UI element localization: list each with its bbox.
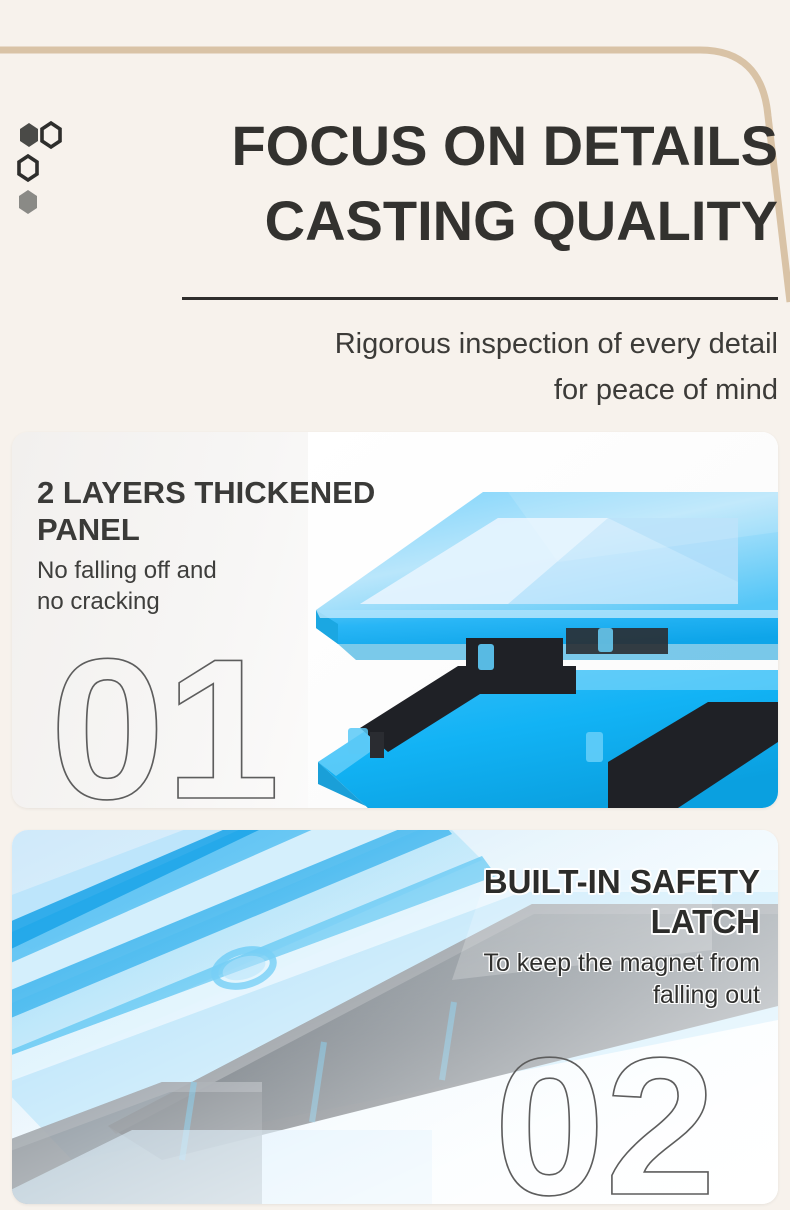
card-01-subtext: No falling off and no cracking bbox=[37, 556, 517, 618]
card-02-subtext: To keep the magnet from falling out bbox=[330, 947, 760, 1012]
feature-card-01: 2 LAYERS THICKENED PANEL No falling off … bbox=[12, 432, 778, 808]
card-02-sub-line-2: falling out bbox=[330, 979, 760, 1012]
card-01-number: 01 bbox=[50, 650, 290, 808]
card-01-heading-line-1: 2 LAYERS THICKENED bbox=[37, 474, 517, 511]
card-01-number-text: 01 bbox=[50, 650, 280, 808]
subtitle-line-1: Rigorous inspection of every detail bbox=[150, 322, 778, 368]
feature-card-02: BUILT-IN SAFETY LATCH To keep the magnet… bbox=[12, 830, 778, 1204]
card-02-sub-line-1: To keep the magnet from bbox=[330, 947, 760, 980]
card-01-sub-line-1: No falling off and bbox=[37, 556, 517, 587]
header-subtitle: Rigorous inspection of every detail for … bbox=[150, 322, 778, 414]
card-01-heading-line-2: PANEL bbox=[37, 511, 517, 548]
page-title: FOCUS ON DETAILS CASTING QUALITY bbox=[0, 108, 790, 258]
card-02-text: BUILT-IN SAFETY LATCH To keep the magnet… bbox=[330, 862, 760, 1012]
card-02-number: 02 bbox=[494, 1052, 724, 1204]
title-line-1: FOCUS ON DETAILS bbox=[0, 108, 778, 183]
title-line-2: CASTING QUALITY bbox=[0, 183, 778, 258]
card-02-heading: BUILT-IN SAFETY LATCH bbox=[330, 862, 760, 943]
header-divider bbox=[182, 297, 778, 300]
card-01-heading: 2 LAYERS THICKENED PANEL bbox=[37, 474, 517, 548]
card-01-sub-line-2: no cracking bbox=[37, 587, 517, 618]
card-02-heading-line-2: LATCH bbox=[330, 902, 760, 942]
subtitle-line-2: for peace of mind bbox=[150, 368, 778, 414]
card-02-heading-line-1: BUILT-IN SAFETY bbox=[330, 862, 760, 902]
card-02-number-text: 02 bbox=[494, 1052, 716, 1204]
card-01-text: 2 LAYERS THICKENED PANEL No falling off … bbox=[37, 474, 517, 618]
page-header: FOCUS ON DETAILS CASTING QUALITY bbox=[0, 108, 790, 258]
